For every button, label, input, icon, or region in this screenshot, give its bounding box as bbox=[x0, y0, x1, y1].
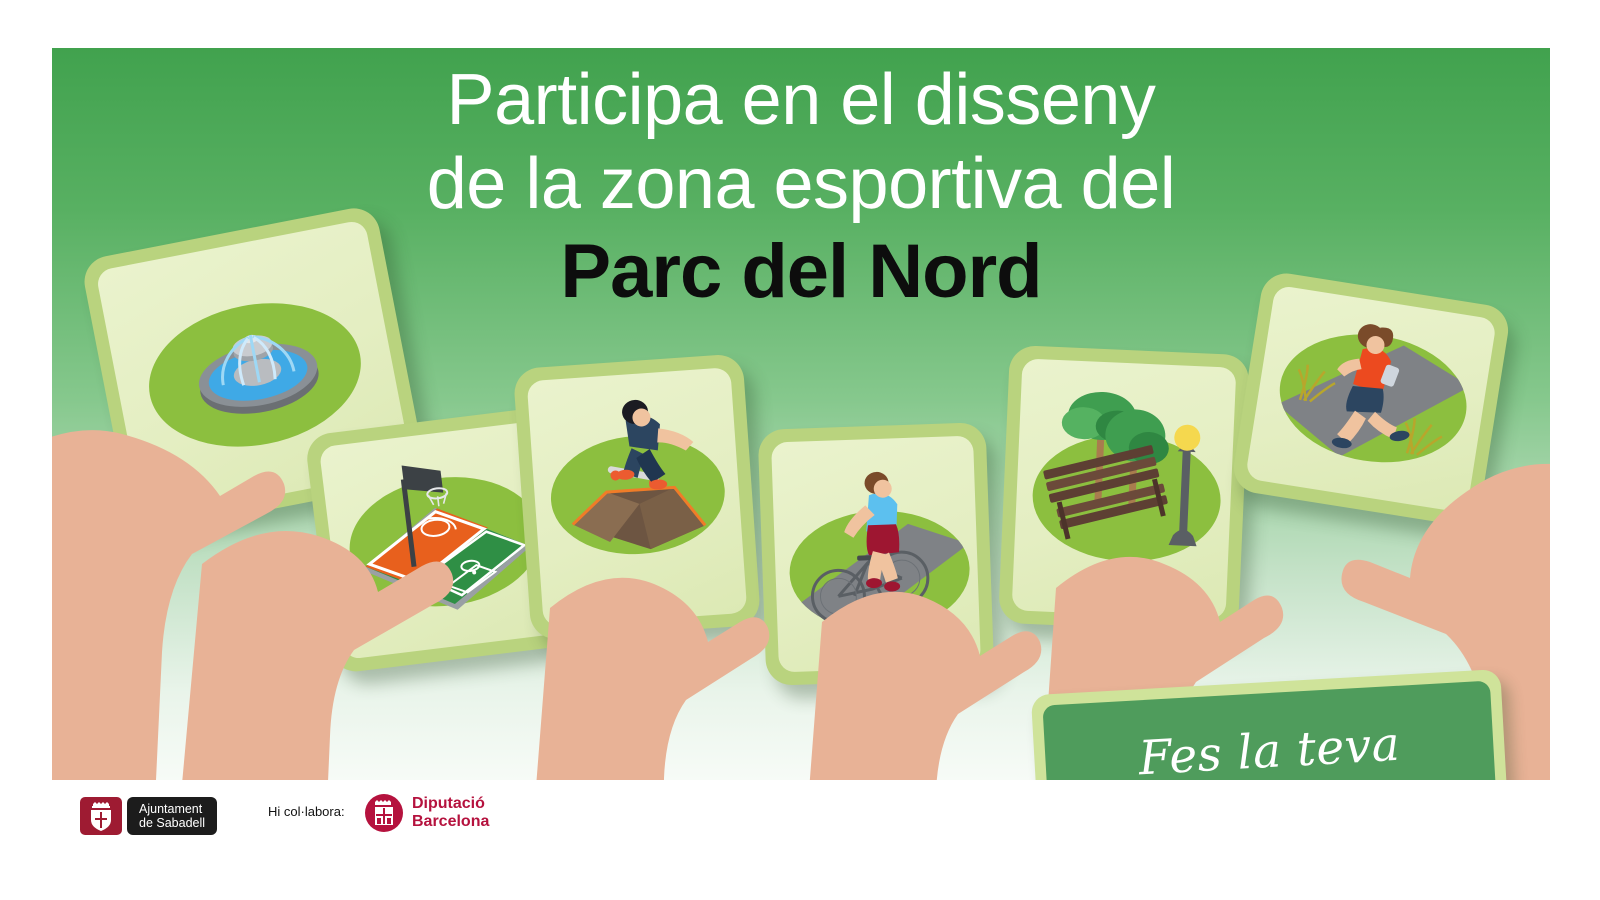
cyclist-illustration bbox=[771, 436, 981, 673]
bench-illustration bbox=[1012, 358, 1237, 619]
ajuntament-line-2: de Sabadell bbox=[139, 816, 205, 830]
collaborates-label: Hi col·labora: bbox=[268, 804, 345, 819]
ajuntament-label: Ajuntament de Sabadell bbox=[127, 797, 217, 835]
ajuntament-sabadell-logo[interactable]: Ajuntament de Sabadell bbox=[80, 797, 217, 835]
banner-panel: Participa en el disseny de la zona espor… bbox=[52, 48, 1550, 780]
crest-glyph bbox=[371, 799, 397, 827]
shield-glyph bbox=[88, 801, 114, 831]
running-path-card[interactable] bbox=[1230, 270, 1512, 528]
bike-path-card[interactable] bbox=[758, 422, 995, 686]
footer-bar: Ajuntament de Sabadell Hi col·labora: Di… bbox=[0, 780, 1600, 900]
bike-path-card-face bbox=[771, 436, 981, 673]
diputacio-line-2: Barcelona bbox=[412, 813, 489, 831]
skatepark-card-face bbox=[527, 367, 748, 627]
ajuntament-line-1: Ajuntament bbox=[139, 802, 205, 816]
diputacio-crest-icon bbox=[365, 794, 403, 832]
headline-line-2: de la zona esportiva del bbox=[52, 142, 1550, 226]
park-bench-card[interactable] bbox=[998, 345, 1250, 633]
diputacio-line-1: Diputació bbox=[412, 795, 489, 813]
park-bench-card-face bbox=[1012, 358, 1237, 619]
headline-line-1: Participa en el disseny bbox=[52, 58, 1550, 142]
runner-illustration bbox=[1245, 285, 1497, 514]
poster-canvas: Participa en el disseny de la zona espor… bbox=[0, 0, 1600, 900]
diputacio-label: Diputació Barcelona bbox=[412, 795, 489, 831]
skater-illustration bbox=[527, 367, 748, 627]
sabadell-shield-icon bbox=[80, 797, 122, 835]
diputacio-barcelona-logo[interactable]: Diputació Barcelona bbox=[365, 794, 489, 832]
skatepark-card[interactable] bbox=[513, 353, 761, 640]
running-path-card-face bbox=[1245, 285, 1497, 514]
